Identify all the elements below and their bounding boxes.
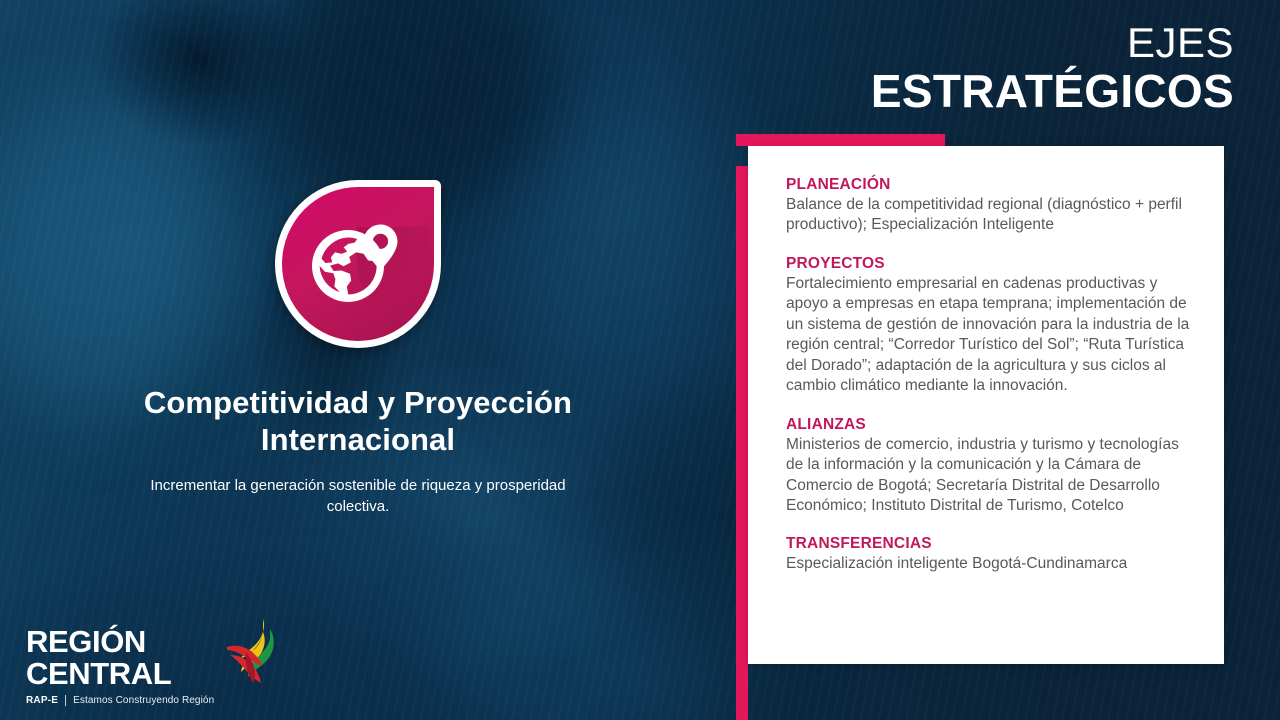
axis-subtitle: Incrementar la generación sostenible de … (0, 476, 716, 517)
section-title-planeacion: PLANEACIÓN (786, 176, 1190, 194)
section-body-proyectos: Fortalecimiento empresarial en cadenas p… (786, 274, 1190, 397)
logo-divider (65, 695, 66, 706)
card-section: TRANSFERENCIAS Especialización inteligen… (786, 535, 1190, 574)
axis-title: Competitividad y Proyección Internaciona… (0, 384, 716, 458)
logo-slogan: Estamos Construyendo Región (73, 696, 214, 706)
slide: EJES ESTRATÉGICOS Competitividad y Proye… (0, 0, 1280, 720)
globe-pin-glyph (302, 208, 414, 320)
section-title-alianzas: ALIANZAS (786, 416, 1190, 434)
heading-line-1: EJES (871, 22, 1234, 64)
axis-summary: Competitividad y Proyección Internaciona… (0, 180, 716, 518)
section-body-alianzas: Ministerios de comercio, industria y tur… (786, 435, 1190, 517)
region-central-logo: REGIÓN CENTRAL RAP-E Estamos Construyend… (26, 617, 276, 706)
logo-wordmark: REGIÓN CENTRAL RAP-E Estamos Construyend… (26, 626, 214, 706)
section-body-transferencias: Especialización inteligente Bogotá-Cundi… (786, 554, 1190, 574)
flame-leaf-logo-icon (218, 617, 276, 688)
card-section: PLANEACIÓN Balance de la competitividad … (786, 176, 1190, 236)
logo-rape-label: RAP-E (26, 696, 58, 706)
heading-line-2: ESTRATÉGICOS (871, 68, 1234, 114)
logo-word-central: CENTRAL (26, 658, 214, 689)
slide-heading: EJES ESTRATÉGICOS (871, 22, 1234, 114)
logo-tagline: RAP-E Estamos Construyendo Región (26, 695, 214, 706)
card-accent-bottom-bar (736, 134, 945, 146)
logo-word-region: REGIÓN (26, 626, 214, 657)
section-body-planeacion: Balance de la competitividad regional (d… (786, 195, 1190, 236)
globe-location-pin-icon (275, 180, 441, 348)
card-section: ALIANZAS Ministerios de comercio, indust… (786, 416, 1190, 517)
content-card: PLANEACIÓN Balance de la competitividad … (748, 146, 1224, 664)
section-title-transferencias: TRANSFERENCIAS (786, 535, 1190, 553)
background-shape (430, 560, 750, 720)
card-section: PROYECTOS Fortalecimiento empresarial en… (786, 255, 1190, 397)
card-accent-left-bar (736, 166, 748, 720)
section-title-proyectos: PROYECTOS (786, 255, 1190, 273)
